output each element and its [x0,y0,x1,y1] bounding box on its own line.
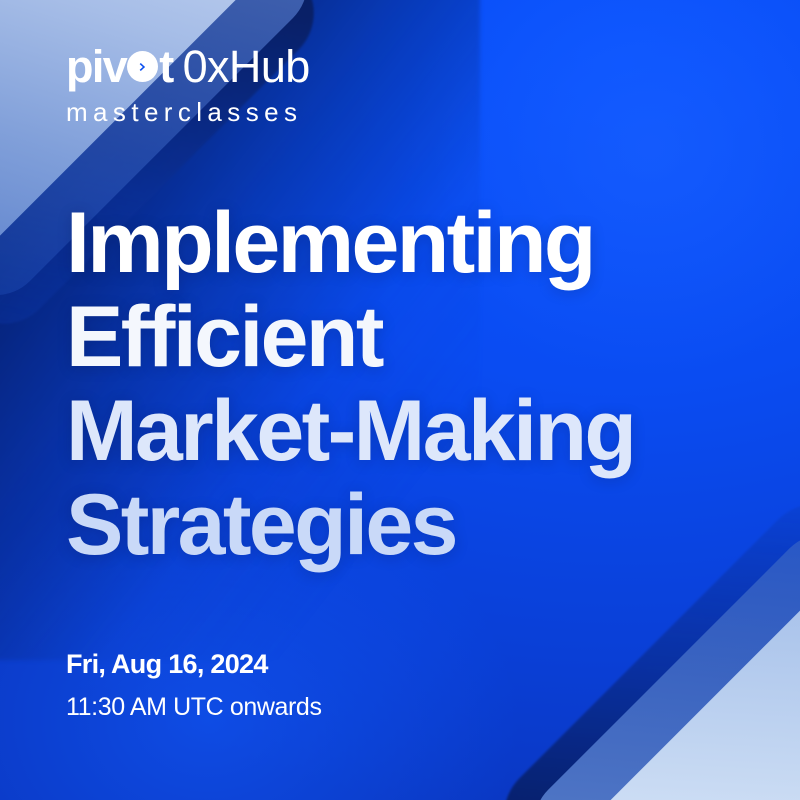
event-poster: piv t 0xHub masterclasses Implementing E… [0,0,800,800]
brand-wordmark-pivot-pre: piv [66,44,126,89]
brand-wordmark-pivot: piv t [66,44,173,89]
page-title-line-2: Efficient [66,290,686,384]
brand-subtitle: masterclasses [66,99,310,125]
brand-logo-row: piv t 0xHub [66,44,310,90]
page-title-line-3: Market-Making [66,384,686,478]
poster-content: piv t 0xHub masterclasses Implementing E… [0,0,800,800]
event-time: 11:30 AM UTC onwards [66,692,322,723]
play-chevron-icon [127,51,158,82]
brand-logo: piv t 0xHub masterclasses [66,44,310,125]
page-title-line-4: Strategies [66,478,686,572]
brand-wordmark-pivot-post: t [159,44,172,89]
brand-wordmark-hub: 0xHub [183,44,310,89]
event-schedule: Fri, Aug 16, 2024 11:30 AM UTC onwards [66,648,322,722]
page-title-line-1: Implementing [66,196,686,290]
event-date: Fri, Aug 16, 2024 [66,648,322,681]
page-title: Implementing Efficient Market-Making Str… [66,196,686,572]
